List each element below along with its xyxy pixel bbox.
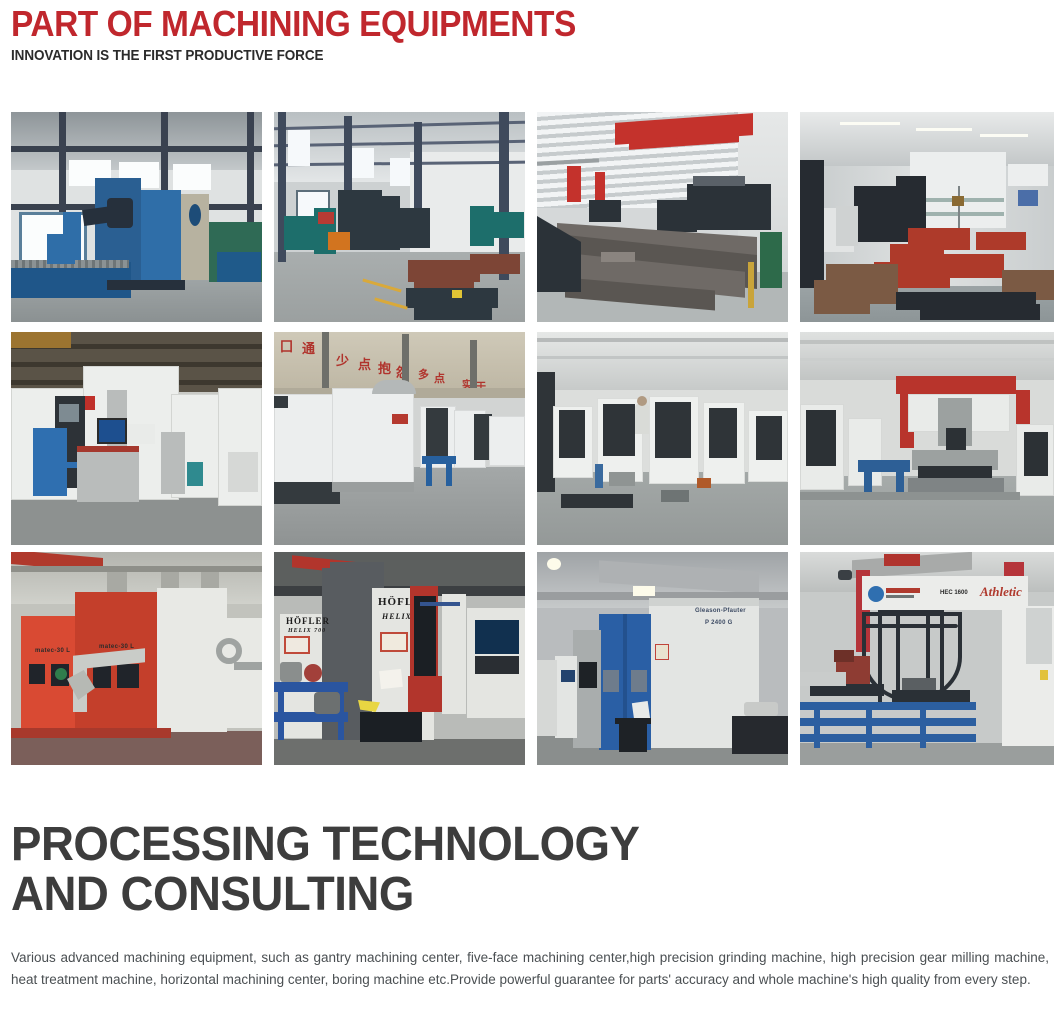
gallery-photo-5[interactable]	[11, 332, 262, 545]
gallery-photo-1[interactable]	[11, 112, 262, 322]
equipment-photo-grid: 囗 通 少 点 抱 怨 多 点 实 干	[11, 112, 1056, 762]
section-heading-line1: PROCESSING TECHNOLOGY	[11, 820, 999, 870]
photo-scene-red-gantry-mill	[800, 332, 1054, 545]
gallery-photo-12[interactable]: HEC 1600 Athletic	[800, 552, 1054, 765]
photo-scene-gleason-pfauter: Gleason-Pfauter P 2400 G	[537, 552, 788, 765]
photo-scene-hofler-helix-700: HÖFLER HELIX 700 HÖFLER HELIX 700	[274, 552, 525, 765]
gallery-photo-6[interactable]: 囗 通 少 点 抱 怨 多 点 实 干	[274, 332, 525, 545]
photo-scene-blue-gantry	[11, 112, 262, 322]
photo-scene-matec-30l: matec-30 L matec-30 L	[11, 552, 262, 765]
photo-scene-five-face-center	[800, 112, 1054, 322]
photo-scene-vmc-row-operator	[537, 332, 788, 545]
page-header: PART OF MACHINING EQUIPMENTS INNOVATION …	[0, 0, 1060, 65]
gallery-photo-8[interactable]	[800, 332, 1054, 545]
photo-scene-large-bed-crane	[537, 112, 788, 322]
page-subtitle: INNOVATION IS THE FIRST PRODUCTIVE FORCE	[11, 47, 955, 65]
section-heading-line2: AND CONSULTING	[11, 870, 999, 920]
photo-scene-hmc-row-banner: 囗 通 少 点 抱 怨 多 点 实 干	[274, 332, 525, 545]
section-paragraph: Various advanced machining equipment, su…	[11, 947, 1049, 991]
photo-scene-cnc-cell-laptop	[11, 332, 262, 545]
gallery-photo-3[interactable]	[537, 112, 788, 322]
page-root: PART OF MACHINING EQUIPMENTS INNOVATION …	[0, 0, 1060, 1017]
gallery-photo-2[interactable]	[274, 112, 525, 322]
gallery-photo-4[interactable]	[800, 112, 1054, 322]
gallery-photo-10[interactable]: HÖFLER HELIX 700 HÖFLER HELIX 700	[274, 552, 525, 765]
page-title: PART OF MACHINING EQUIPMENTS	[11, 4, 987, 44]
gallery-photo-11[interactable]: Gleason-Pfauter P 2400 G	[537, 552, 788, 765]
gallery-photo-7[interactable]	[537, 332, 788, 545]
photo-scene-hec-1600-athletic: HEC 1600 Athletic	[800, 552, 1054, 765]
gallery-photo-9[interactable]: matec-30 L matec-30 L	[11, 552, 262, 765]
photo-scene-workshop-wide	[274, 112, 525, 322]
processing-section: PROCESSING TECHNOLOGY AND CONSULTING Var…	[11, 820, 1051, 991]
